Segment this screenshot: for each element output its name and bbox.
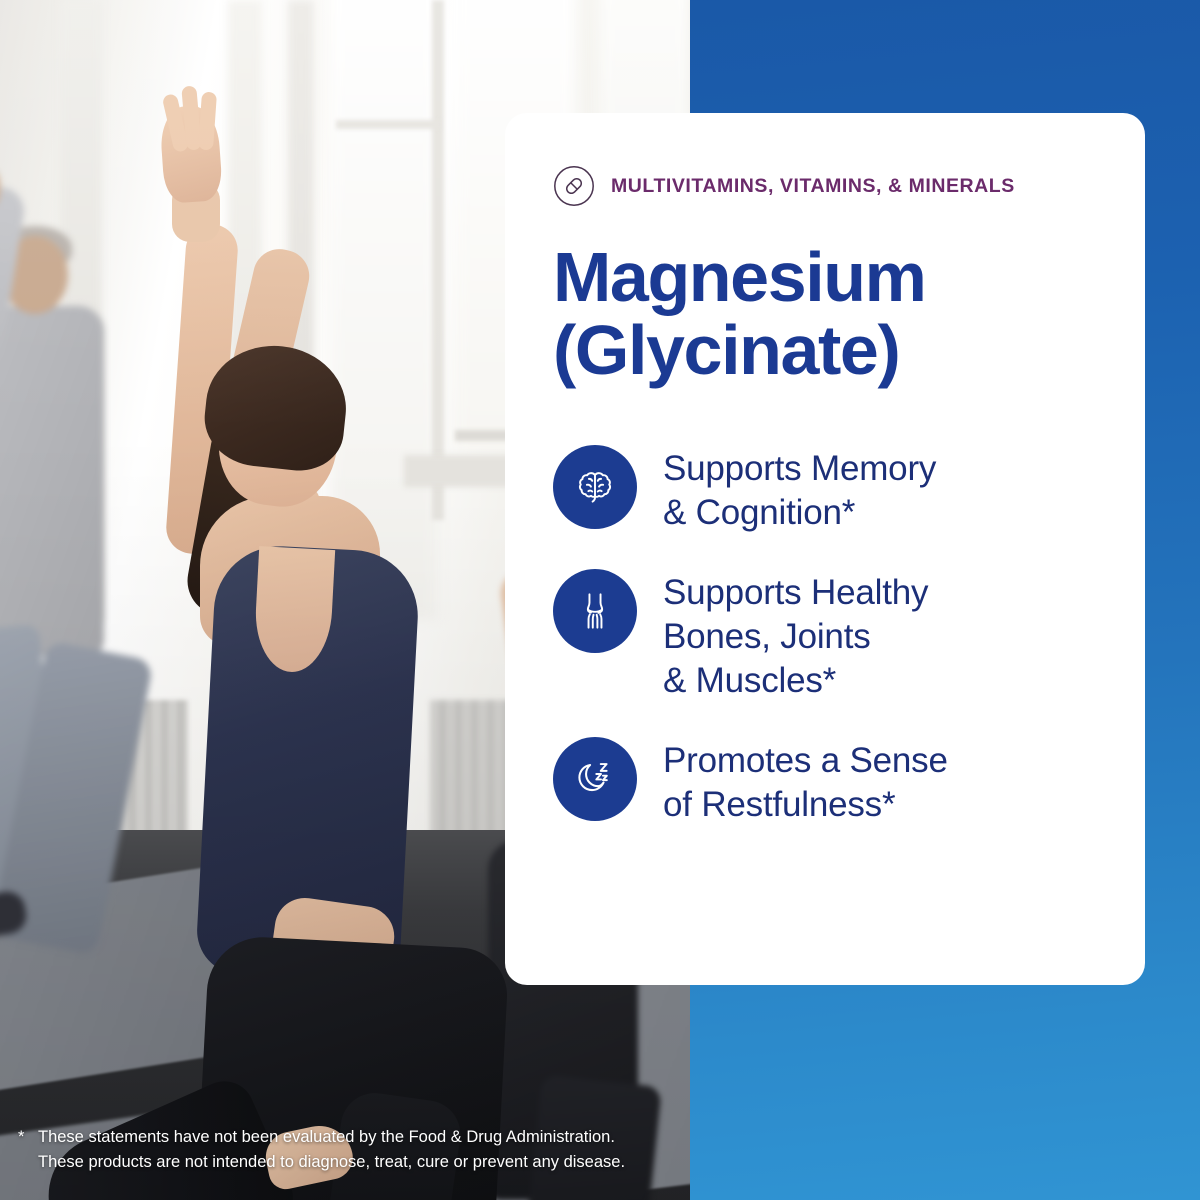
benefits-list: Supports Memory & Cognition*	[553, 445, 1099, 828]
benefit-line: Promotes a Sense	[663, 739, 948, 783]
knee-joint-icon	[553, 569, 637, 653]
foreground-woman-yoga-pose	[80, 96, 550, 1200]
moon-sleep-icon	[553, 737, 637, 821]
benefit-line: & Muscles*	[663, 659, 928, 703]
benefit-item-restfulness: Promotes a Sense of Restfulness*	[553, 737, 1099, 827]
benefit-item-bones: Supports Healthy Bones, Joints & Muscles…	[553, 569, 1099, 703]
disclaimer-text-1: These statements have not been evaluated…	[38, 1128, 615, 1146]
page-title: Magnesium (Glycinate)	[553, 241, 1099, 387]
category-row: MULTIVITAMINS, VITAMINS, & MINERALS	[553, 165, 1099, 207]
title-line-1: Magnesium	[553, 241, 1099, 314]
disclaimer-line-1: *These statements have not been evaluate…	[18, 1125, 678, 1151]
disclaimer-text-2: These products are not intended to diagn…	[38, 1153, 625, 1171]
benefit-line: & Cognition*	[663, 491, 936, 535]
disclaimer-asterisk: *	[18, 1125, 38, 1151]
benefit-text-restfulness: Promotes a Sense of Restfulness*	[663, 737, 948, 827]
product-info-card: MULTIVITAMINS, VITAMINS, & MINERALS Magn…	[505, 113, 1145, 985]
benefit-line: Supports Healthy	[663, 571, 928, 615]
benefit-line: Supports Memory	[663, 447, 936, 491]
benefit-text-bones: Supports Healthy Bones, Joints & Muscles…	[663, 569, 928, 703]
fda-disclaimer: *These statements have not been evaluate…	[18, 1125, 678, 1176]
benefit-item-memory: Supports Memory & Cognition*	[553, 445, 1099, 535]
benefit-line: of Restfulness*	[663, 783, 948, 827]
disclaimer-line-2: These products are not intended to diagn…	[18, 1150, 678, 1176]
benefit-line: Bones, Joints	[663, 615, 928, 659]
category-label: MULTIVITAMINS, VITAMINS, & MINERALS	[611, 175, 1015, 198]
pill-capsule-icon	[553, 165, 595, 207]
title-line-2: (Glycinate)	[553, 314, 1099, 387]
benefit-text-memory: Supports Memory & Cognition*	[663, 445, 936, 535]
brain-icon	[553, 445, 637, 529]
